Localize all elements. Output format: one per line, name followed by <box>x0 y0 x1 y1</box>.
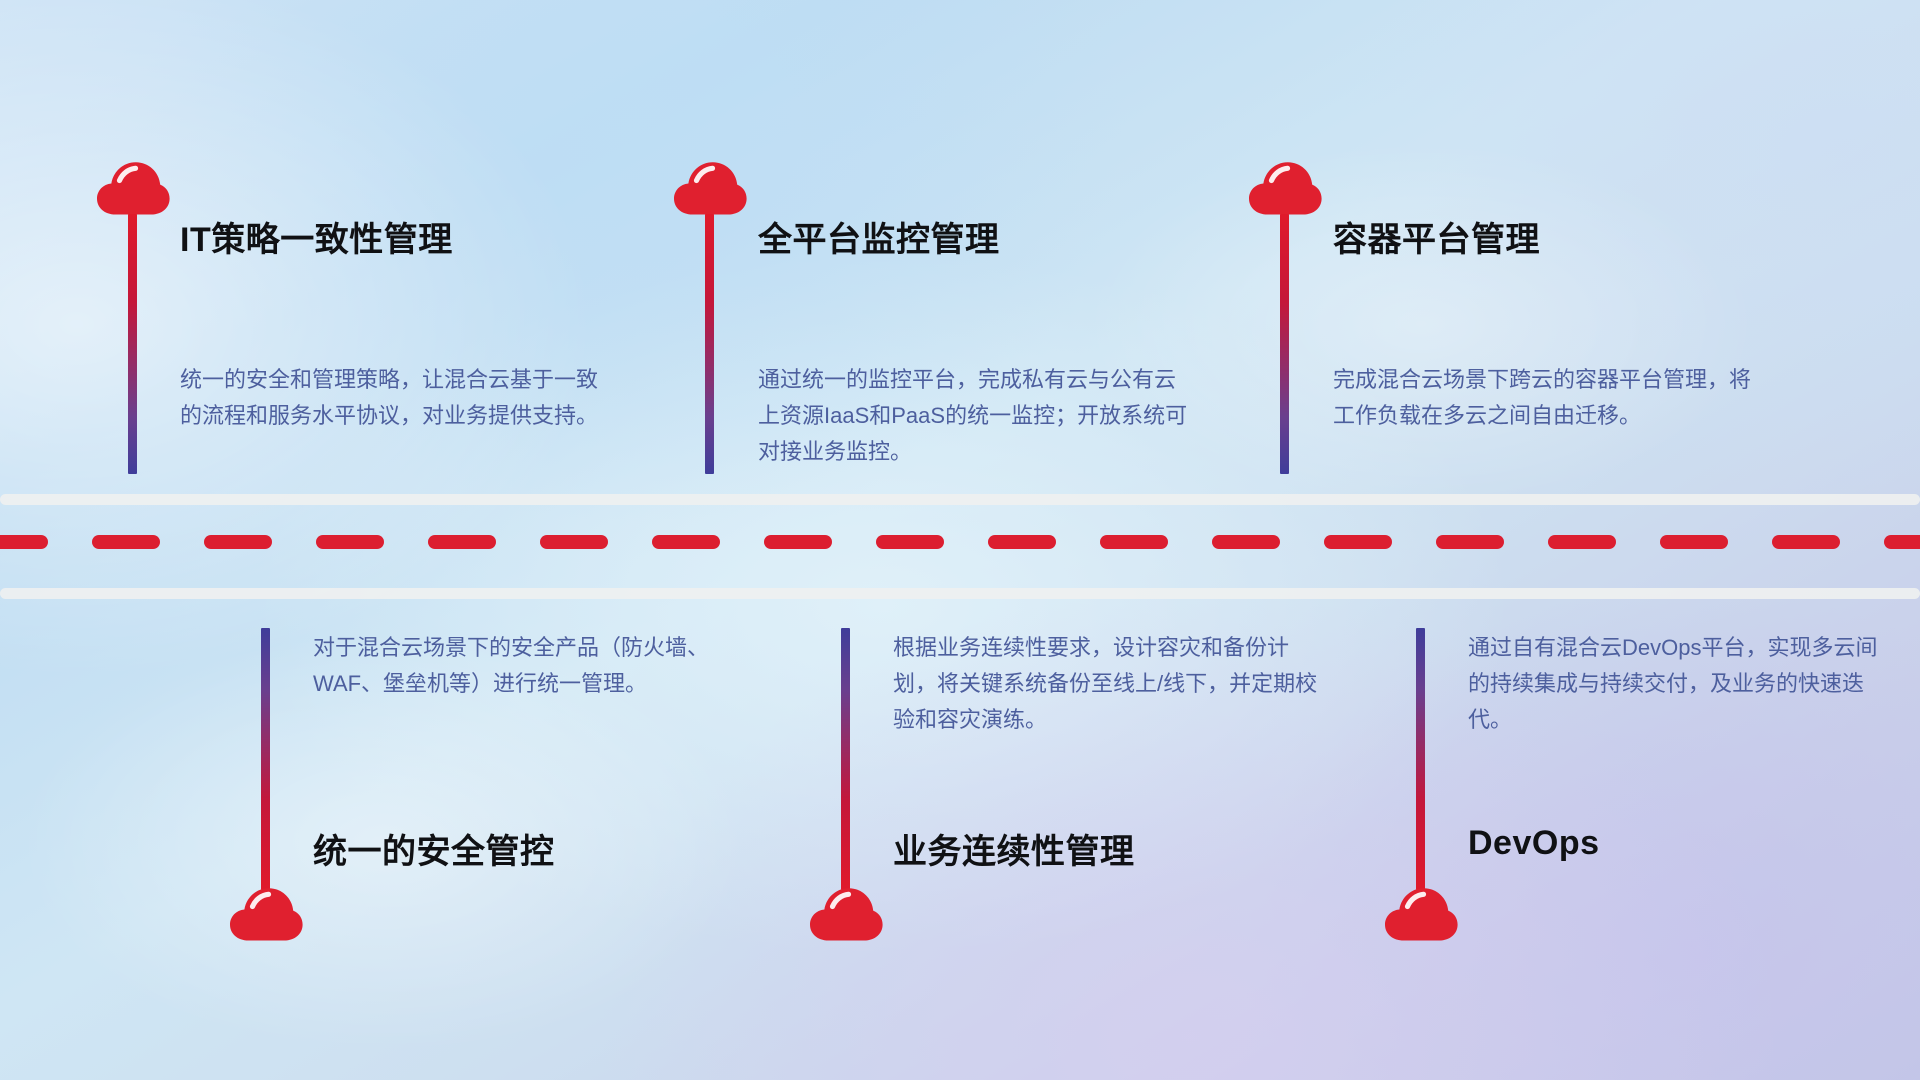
cloud-icon <box>228 886 304 942</box>
top-body-3: 完成混合云场景下跨云的容器平台管理，将工作负载在多云之间自由迁移。 <box>1333 362 1763 434</box>
road-dash <box>540 535 608 549</box>
road-dash <box>1884 535 1920 549</box>
bottom-body-1: 对于混合云场景下的安全产品（防火墙、WAF、堡垒机等）进行统一管理。 <box>313 630 743 702</box>
road-dash <box>1772 535 1840 549</box>
road-dash <box>1324 535 1392 549</box>
road-dash <box>1660 535 1728 549</box>
cloud-icon <box>1383 886 1459 942</box>
pin-stem <box>1416 628 1425 890</box>
bottom-body-2: 根据业务连续性要求，设计容灾和备份计划，将关键系统备份至线上/线下，并定期校验和… <box>893 630 1323 738</box>
cloud-icon <box>95 160 171 216</box>
road-dash <box>876 535 944 549</box>
infographic-canvas: IT策略一致性管理 统一的安全和管理策略，让混合云基于一致的流程和服务水平协议，… <box>0 0 1920 1080</box>
road-dash <box>1548 535 1616 549</box>
top-heading-3: 容器平台管理 <box>1333 212 1540 261</box>
pin-stem <box>841 628 850 890</box>
pin-stem <box>128 214 137 474</box>
cloud-icon <box>808 886 884 942</box>
road-dash <box>316 535 384 549</box>
road-rail-top <box>0 494 1920 505</box>
top-heading-1: IT策略一致性管理 <box>180 212 453 261</box>
pin-stem <box>705 214 714 474</box>
top-body-2: 通过统一的监控平台，完成私有云与公有云上资源IaaS和PaaS的统一监控；开放系… <box>758 362 1188 470</box>
cloud-icon <box>672 160 748 216</box>
road-dash <box>1100 535 1168 549</box>
road-dash <box>988 535 1056 549</box>
road-dash <box>92 535 160 549</box>
road-dash <box>204 535 272 549</box>
road-divider <box>0 487 1920 607</box>
road-dash <box>652 535 720 549</box>
pin-stem <box>261 628 270 890</box>
bottom-heading-1: 统一的安全管控 <box>313 824 555 873</box>
bottom-body-3: 通过自有混合云DevOps平台，实现多云间的持续集成与持续交付，及业务的快速迭代… <box>1468 630 1898 738</box>
pin-stem <box>1280 214 1289 474</box>
road-dash <box>764 535 832 549</box>
road-dash <box>1212 535 1280 549</box>
bottom-heading-3: DevOps <box>1468 824 1600 863</box>
road-dash <box>428 535 496 549</box>
road-dash <box>0 535 48 549</box>
bottom-heading-2: 业务连续性管理 <box>893 824 1135 873</box>
top-body-1: 统一的安全和管理策略，让混合云基于一致的流程和服务水平协议，对业务提供支持。 <box>180 362 610 434</box>
road-dash <box>1436 535 1504 549</box>
top-heading-2: 全平台监控管理 <box>758 212 1000 261</box>
road-rail-bottom <box>0 588 1920 599</box>
road-centerline-dashed <box>0 535 1920 549</box>
cloud-icon <box>1247 160 1323 216</box>
